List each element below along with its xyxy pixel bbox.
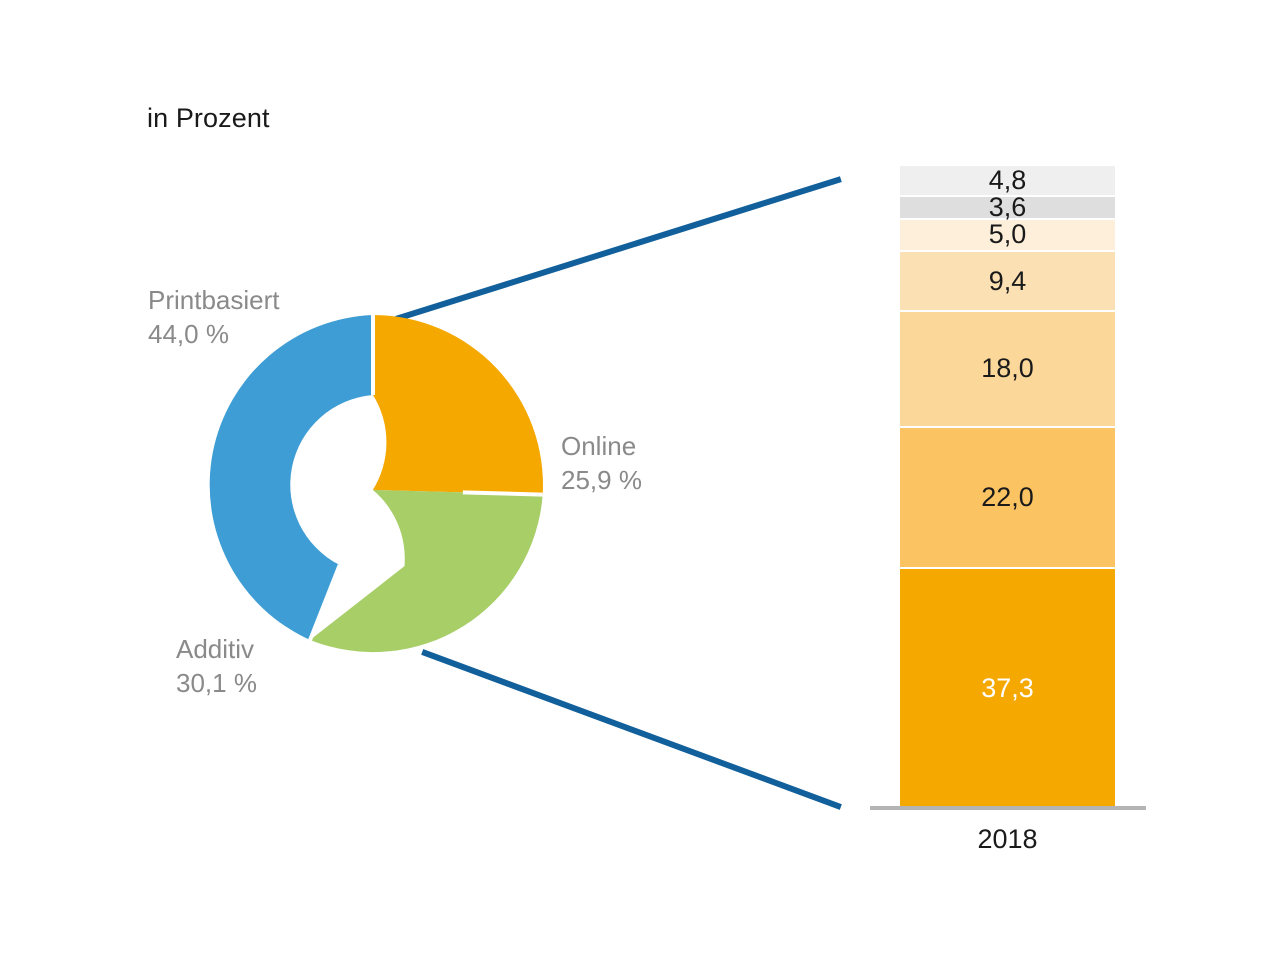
bar-axis-label-year: 2018: [900, 824, 1115, 855]
bar-segment-value: 37,3: [981, 675, 1034, 702]
donut-label-online: Online 25,9 %: [561, 429, 642, 497]
donut-label-additiv-value: 30,1 %: [176, 666, 257, 700]
chart-canvas: in Prozent Printbasiert 44,0 % Additiv 3: [0, 0, 1280, 964]
donut-label-additiv: Additiv 30,1 %: [176, 632, 257, 700]
donut-slice-online[interactable]: [373, 315, 543, 495]
donut-slice-printbasiert[interactable]: [210, 315, 373, 640]
bar-segment[interactable]: 22,0: [900, 428, 1115, 569]
bar-segment[interactable]: 9,4: [900, 252, 1115, 312]
bar-segment-value: 22,0: [981, 484, 1034, 511]
donut-slice-additiv[interactable]: [310, 490, 543, 652]
donut-label-additiv-name: Additiv: [176, 634, 254, 664]
donut-label-printbasiert-value: 44,0 %: [148, 317, 280, 351]
donut-svg: [203, 315, 543, 655]
bar-segment-value: 5,0: [989, 221, 1027, 248]
bar-segment-value: 4,8: [989, 167, 1027, 194]
bar-segment[interactable]: 18,0: [900, 312, 1115, 427]
bar-segment-value: 18,0: [981, 355, 1034, 382]
bar-segment-value: 3,6: [989, 194, 1027, 221]
donut-label-online-value: 25,9 %: [561, 463, 642, 497]
donut-label-online-name: Online: [561, 431, 636, 461]
donut-chart: [203, 315, 543, 655]
bar-baseline: [870, 806, 1146, 810]
donut-separator-right: [463, 492, 543, 494]
bar-segment[interactable]: 4,8: [900, 166, 1115, 197]
stacked-bar-2018: 4,83,65,09,418,022,037,3: [900, 166, 1115, 808]
donut-label-printbasiert-name: Printbasiert: [148, 285, 280, 315]
leader-line-top: [399, 180, 838, 318]
bar-segment[interactable]: 5,0: [900, 220, 1115, 252]
bar-segment[interactable]: 3,6: [900, 197, 1115, 220]
bar-segment[interactable]: 37,3: [900, 569, 1115, 808]
leader-line-bottom: [425, 653, 838, 806]
bar-segment-value: 9,4: [989, 268, 1027, 295]
donut-label-printbasiert: Printbasiert 44,0 %: [148, 283, 280, 351]
